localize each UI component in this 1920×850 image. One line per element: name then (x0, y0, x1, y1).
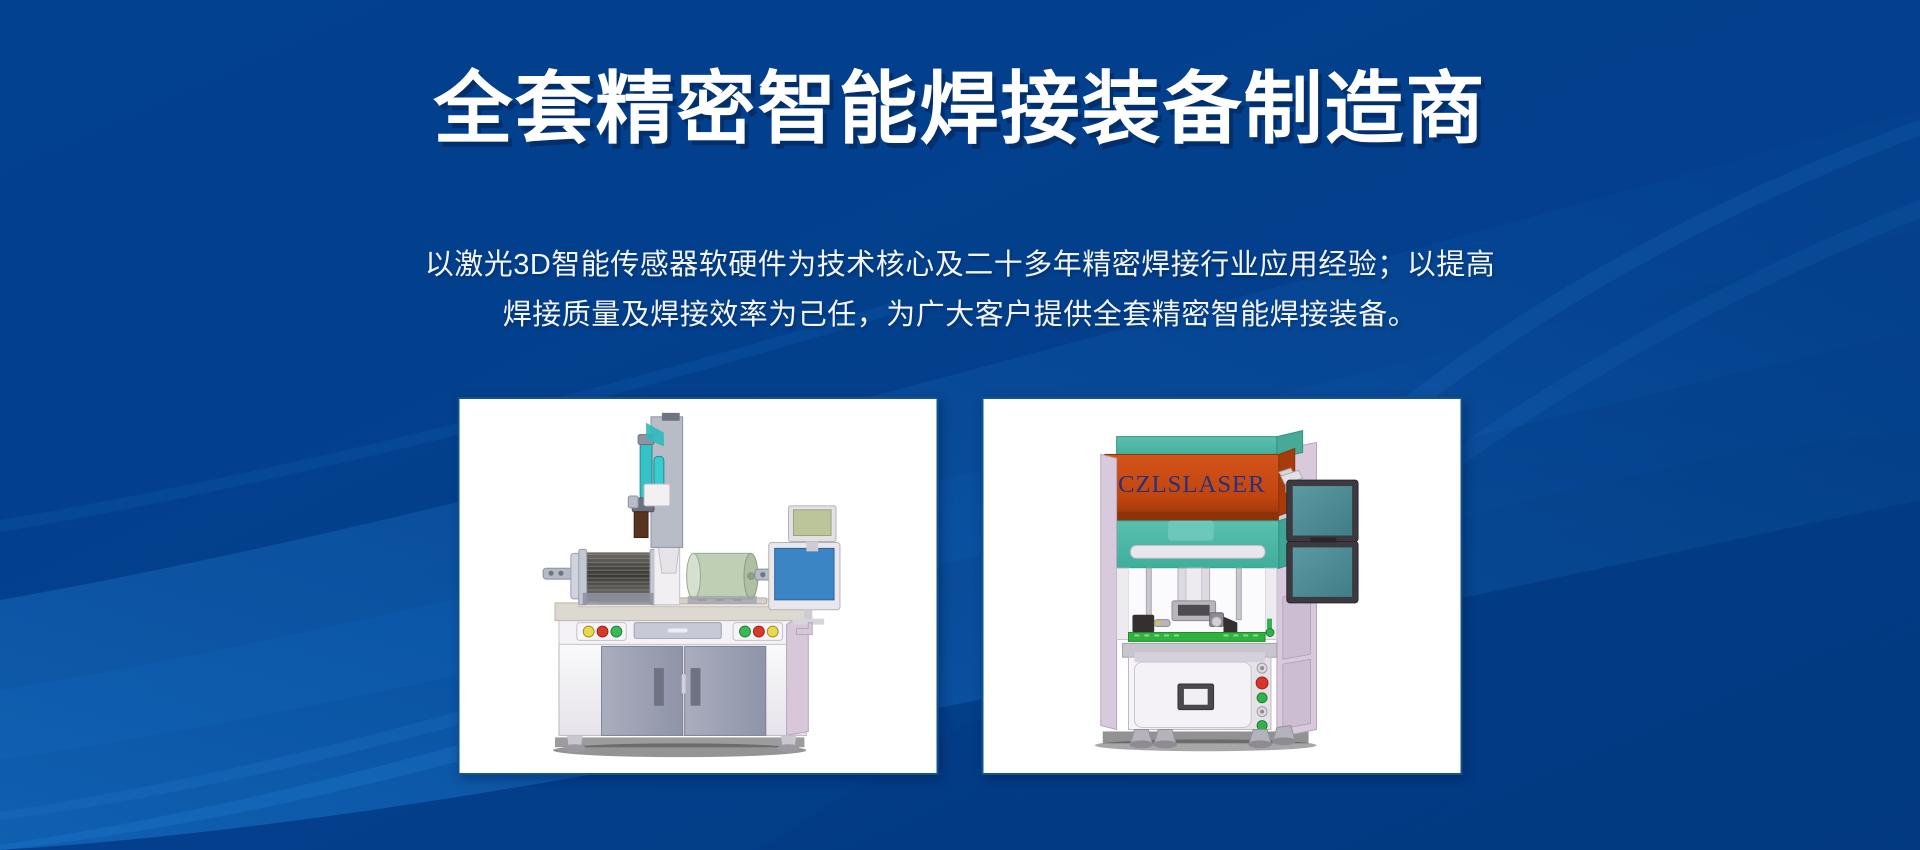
subtitle-line-2: 焊接质量及焊接效率为己任，为广大客户提供全套精密智能焊接装备。 (390, 290, 1530, 340)
hero-banner: 全套精密智能焊接装备制造商 以激光3D智能传感器软硬件为技术核心及二十多年精密焊… (0, 0, 1920, 850)
page-title: 全套精密智能焊接装备制造商 (434, 62, 1487, 155)
product-image-enclosed-laser-welding-cell[interactable]: CZLSLASER (982, 397, 1463, 775)
subtitle-line-1: 以激光3D智能传感器软硬件为技术核心及二十多年精密焊接行业应用经验；以提高 (390, 240, 1530, 290)
product-image-precision-welding-workstation[interactable] (458, 397, 939, 775)
product-gallery: CZLSLASER (458, 397, 1463, 775)
brand-label: CZLSLASER (1118, 471, 1266, 498)
subtitle-container: 以激光3D智能传感器软硬件为技术核心及二十多年精密焊接行业应用经验；以提高 焊接… (390, 240, 1530, 340)
headline-container: 全套精密智能焊接装备制造商 (0, 62, 1920, 155)
